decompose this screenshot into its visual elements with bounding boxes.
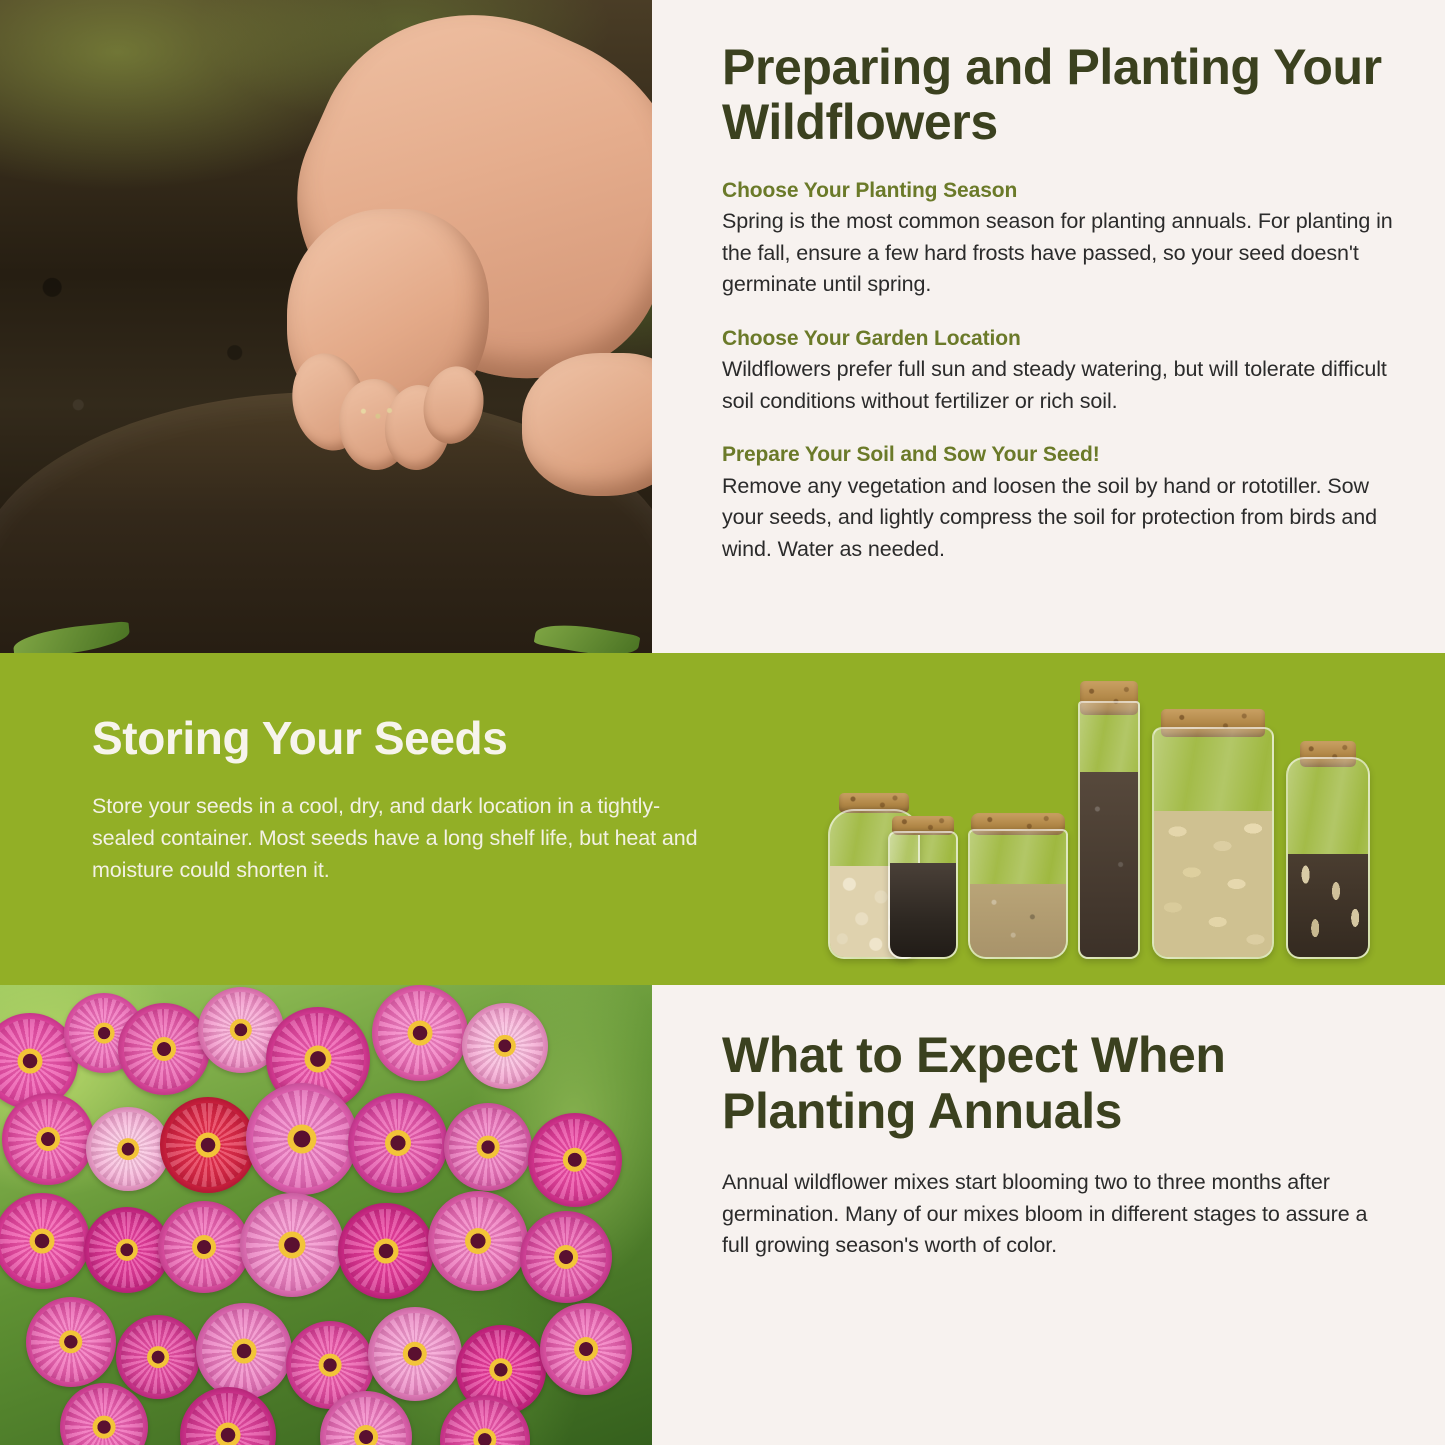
zinnia-bloom (160, 1097, 256, 1193)
zinnia-bloom (462, 1003, 548, 1089)
soil-planting-photo (0, 0, 652, 653)
jar-pumpkin-seeds (1152, 727, 1274, 959)
zinnia-bloom (528, 1113, 622, 1207)
zinnia-bloom (118, 1003, 210, 1095)
tip-block-planting-season: Choose Your Planting Season Spring is th… (722, 178, 1393, 301)
zinnia-bloom (368, 1307, 462, 1401)
subheading-prepare-soil: Prepare Your Soil and Sow Your Seed! (722, 442, 1393, 467)
zinnia-bloom (26, 1297, 116, 1387)
seed-fill-dark (1080, 772, 1138, 957)
glass-body (968, 829, 1068, 959)
expect-body: Annual wildflower mixes start blooming t… (722, 1167, 1393, 1262)
jar-sunflower-seeds (1286, 757, 1370, 959)
body-garden-location: Wildflowers prefer full sun and steady w… (722, 354, 1393, 417)
zinnia-bloom (116, 1315, 200, 1399)
storing-title: Storing Your Seeds (92, 713, 717, 764)
tip-block-garden-location: Choose Your Garden Location Wildflowers … (722, 326, 1393, 417)
glass-body (1152, 727, 1274, 959)
page-title: Preparing and Planting Your Wildflowers (722, 40, 1393, 150)
seed-fill-pumpkin (1154, 811, 1272, 957)
glass-body (1286, 757, 1370, 959)
storing-text-panel: Storing Your Seeds Store your seeds in a… (92, 713, 717, 886)
preparing-text-panel: Preparing and Planting Your Wildflowers … (652, 0, 1445, 653)
infographic-page: Preparing and Planting Your Wildflowers … (0, 0, 1445, 1445)
jar-tan-seeds (968, 829, 1068, 959)
zinnia-bloom (2, 1093, 94, 1185)
section-preparing-planting: Preparing and Planting Your Wildflowers … (0, 0, 1445, 653)
subheading-garden-location: Choose Your Garden Location (722, 326, 1393, 351)
jar-dark-seeds-tall (1078, 701, 1140, 959)
zinnia-bloom (338, 1203, 434, 1299)
tip-block-prepare-soil: Prepare Your Soil and Sow Your Seed! Rem… (722, 442, 1393, 565)
second-hand (522, 353, 652, 497)
seed-fill-black (890, 863, 956, 957)
body-planting-season: Spring is the most common season for pla… (722, 206, 1393, 301)
expect-title: What to Expect When Planting Annuals (722, 1027, 1393, 1139)
zinnia-flowers-photo (0, 985, 652, 1445)
zinnia-bloom (240, 1193, 344, 1297)
glass-body (888, 831, 958, 959)
zinnia-bloom (158, 1201, 250, 1293)
jar-black-seeds (888, 831, 958, 959)
glass-body (1078, 701, 1140, 959)
zinnia-bloom (84, 1207, 170, 1293)
zinnia-bloom (348, 1093, 448, 1193)
seeds-in-hand (346, 398, 405, 431)
zinnia-bloom (196, 1303, 292, 1399)
zinnia-bloom (444, 1103, 532, 1191)
zinnia-bloom (372, 985, 468, 1081)
section-what-to-expect: What to Expect When Planting Annuals Ann… (0, 985, 1445, 1445)
zinnia-bloom (540, 1303, 632, 1395)
seed-fill-sunflower (1288, 854, 1368, 957)
seed-fill-tan (970, 884, 1066, 957)
body-prepare-soil: Remove any vegetation and loosen the soi… (722, 471, 1393, 566)
section-storing-seeds: Storing Your Seeds Store your seeds in a… (0, 653, 1445, 985)
subheading-planting-season: Choose Your Planting Season (722, 178, 1393, 203)
expect-text-panel: What to Expect When Planting Annuals Ann… (652, 985, 1445, 1445)
zinnia-bloom (86, 1107, 170, 1191)
zinnia-bloom (428, 1191, 528, 1291)
zinnia-bloom (520, 1211, 612, 1303)
seed-jars-photo (820, 661, 1390, 981)
zinnia-bloom (246, 1083, 358, 1195)
storing-body: Store your seeds in a cool, dry, and dar… (92, 790, 717, 887)
